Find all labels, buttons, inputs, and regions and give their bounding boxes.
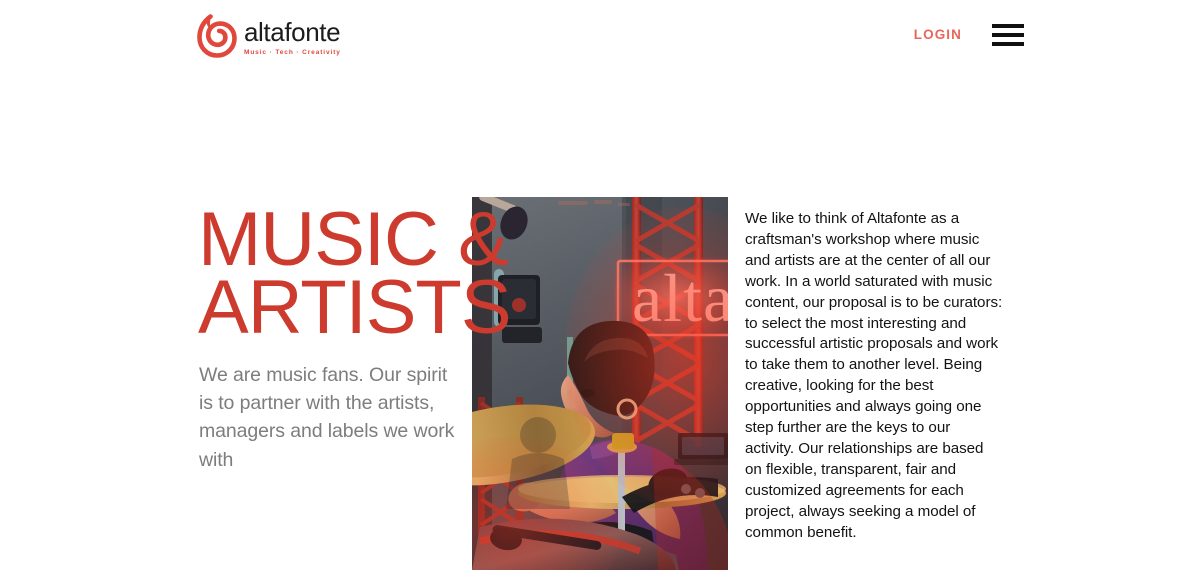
hero-section: MUSIC & ARTISTS — [0, 0, 1200, 587]
hero-photo: alta — [472, 197, 728, 570]
page-root: altafonte Music · Tech · Creativity LOGI… — [0, 0, 1200, 587]
hero-subheading: We are music fans. Our spirit is to part… — [199, 361, 461, 474]
hero-body-text: We like to think of Altafonte as a craft… — [745, 209, 1003, 544]
